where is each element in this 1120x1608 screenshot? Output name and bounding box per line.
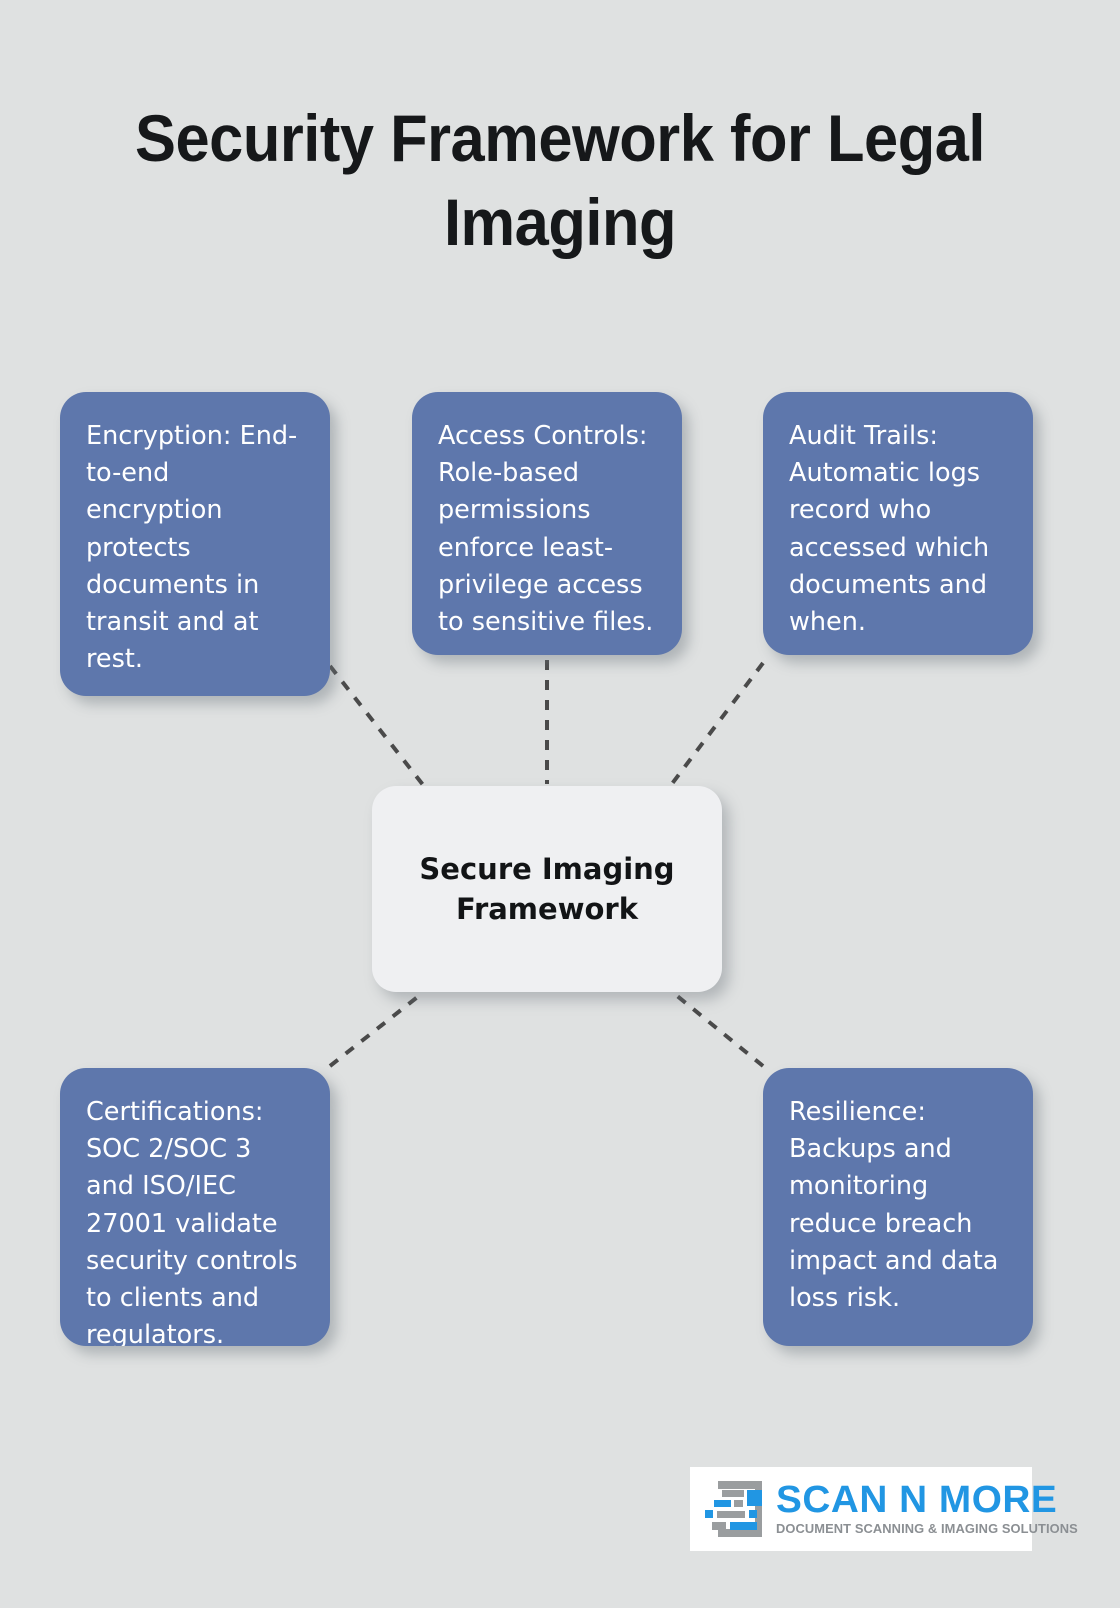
node-audit-trails[interactable]: Audit Trails: Automatic logs record who …: [763, 392, 1033, 655]
connector-audit: [668, 663, 763, 789]
connector-resilience: [676, 995, 763, 1066]
logo-name: SCAN N MORE: [776, 1482, 1087, 1519]
scanned-document-icon: [700, 1477, 768, 1541]
node-resilience[interactable]: Resilience: Backups and monitoring reduc…: [763, 1068, 1033, 1346]
connector-certifications: [330, 995, 420, 1066]
page-title: Security Framework for Legal Imaging: [104, 96, 1015, 265]
logo-wordmark: SCAN N MORE DOCUMENT SCANNING & IMAGING …: [776, 1482, 1081, 1537]
node-encryption[interactable]: Encryption: End-to-end encryption protec…: [60, 392, 330, 696]
hub-node[interactable]: Secure Imaging Framework: [372, 786, 722, 992]
connector-encryption: [330, 666, 427, 790]
node-resilience-text: Resilience: Backups and monitoring reduc…: [789, 1094, 1007, 1317]
node-certifications-text: Certifications: SOC 2/SOC 3 and ISO/IEC …: [86, 1094, 304, 1346]
hub-node-label: Secure Imaging Framework: [412, 849, 682, 929]
infographic-canvas: Security Framework for Legal Imaging Enc…: [0, 0, 1120, 1608]
node-certifications[interactable]: Certifications: SOC 2/SOC 3 and ISO/IEC …: [60, 1068, 330, 1346]
node-access-controls[interactable]: Access Controls: Role-based permissions …: [412, 392, 682, 655]
node-access-controls-text: Access Controls: Role-based permissions …: [438, 418, 656, 641]
logo-tagline: DOCUMENT SCANNING & IMAGING SOLUTIONS: [776, 1522, 1078, 1536]
node-encryption-text: Encryption: End-to-end encryption protec…: [86, 418, 304, 679]
brand-logo[interactable]: SCAN N MORE DOCUMENT SCANNING & IMAGING …: [690, 1467, 1032, 1551]
node-audit-trails-text: Audit Trails: Automatic logs record who …: [789, 418, 1007, 641]
